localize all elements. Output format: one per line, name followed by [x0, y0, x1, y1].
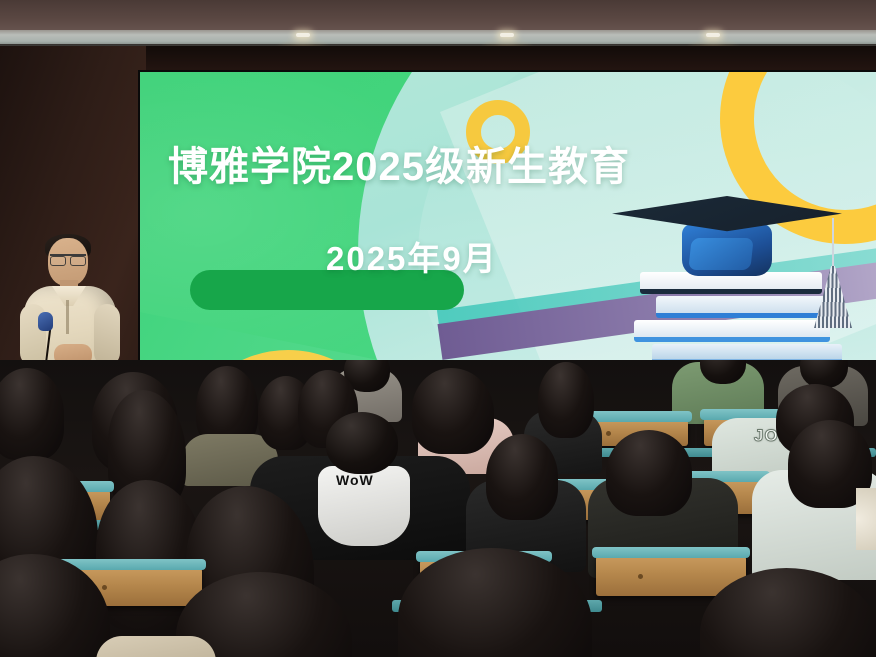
slide-date: 2025年9月	[326, 232, 626, 280]
audience-hair	[538, 362, 594, 438]
audience-head	[326, 412, 398, 474]
audience-hair	[606, 430, 692, 516]
microphone-icon	[38, 312, 53, 331]
desk-screw	[102, 585, 107, 590]
book-blue	[656, 296, 842, 318]
mortarboard-cap-highlight	[688, 238, 753, 270]
desk-screw	[606, 431, 611, 436]
glasses-icon	[50, 254, 86, 262]
audience-area: JOR WoW	[0, 360, 876, 657]
ceiling	[0, 0, 876, 34]
jacket-text-wow: WoW	[336, 472, 374, 488]
lecture-hall-photo: 博雅学院2025级新生教育 2025年9月	[0, 0, 876, 657]
audience-hair	[412, 368, 494, 454]
desk-screw	[638, 574, 643, 579]
audience-body	[96, 636, 216, 657]
mortarboard-icon	[612, 196, 842, 236]
book-white-mid	[634, 320, 830, 342]
speaker-placket	[66, 300, 69, 334]
speaker-arm-right	[94, 304, 120, 366]
slide-title: 博雅学院2025级新生教育	[168, 134, 828, 192]
tassel-cord	[832, 218, 834, 270]
audience-hair	[0, 368, 64, 460]
audience-hair	[486, 434, 558, 520]
paper-fan	[856, 488, 876, 550]
